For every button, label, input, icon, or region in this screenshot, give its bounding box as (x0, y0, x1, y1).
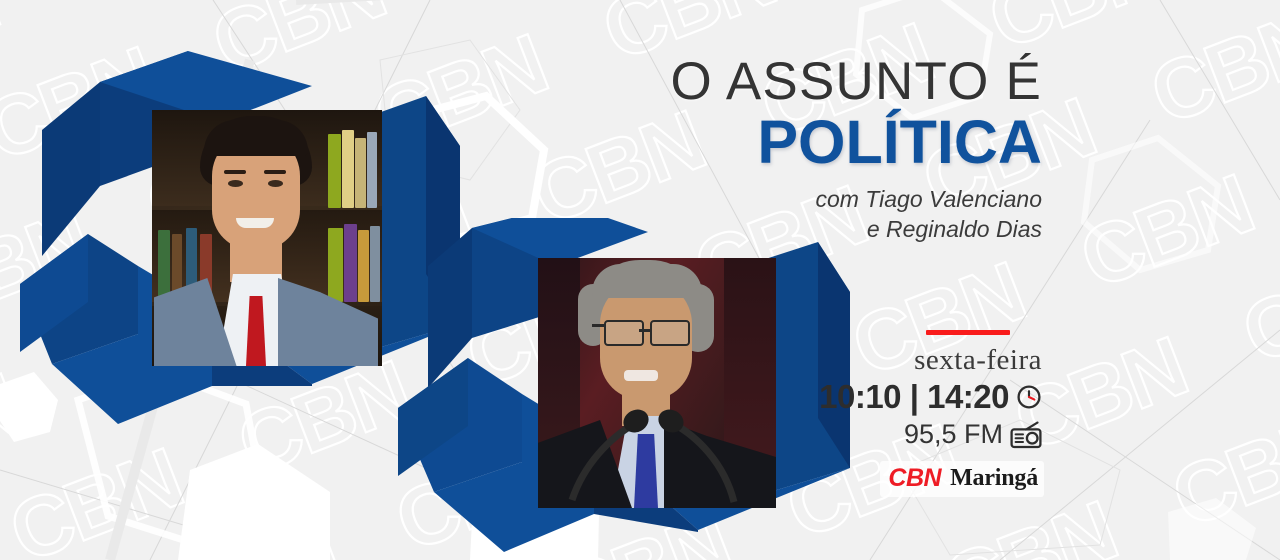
clock-icon (1016, 384, 1042, 410)
show-title-block: O ASSUNTO É POLÍTICA com Tiago Valencian… (522, 54, 1042, 244)
host-credit-line-2: e Reginaldo Dias (522, 215, 1042, 244)
logo-network-name: CBN (888, 464, 941, 493)
radio-frequency: 95,5 FM (904, 419, 1003, 450)
hosts-credit: com Tiago Valenciano e Reginaldo Dias (522, 185, 1042, 244)
frequency-row: 95,5 FM (792, 419, 1042, 450)
red-divider (926, 330, 1010, 335)
station-logo: CBN Maringá (880, 461, 1044, 497)
broadcast-times: 10:10 | 14:20 (819, 378, 1009, 416)
promo-banner: CBNCBNCBNCBNCBNCBNCBNCBNCBNCBNCBNCBNCBNC… (0, 0, 1280, 560)
broadcast-times-row: 10:10 | 14:20 (792, 378, 1042, 416)
schedule-block: sexta-feira 10:10 | 14:20 95,5 FM (792, 330, 1042, 497)
photo-reginaldo-dias (538, 258, 776, 508)
photo-tiago-valenciano (152, 110, 382, 366)
title-line-2: POLÍTICA (522, 112, 1042, 173)
portrait-group-reginaldo-dias (398, 218, 858, 560)
title-line-1: O ASSUNTO É (522, 54, 1042, 110)
broadcast-day: sexta-feira (792, 343, 1042, 377)
logo-city-name: Maringá (950, 465, 1038, 492)
radio-icon (1010, 421, 1042, 449)
host-credit-line-1: com Tiago Valenciano (522, 185, 1042, 214)
